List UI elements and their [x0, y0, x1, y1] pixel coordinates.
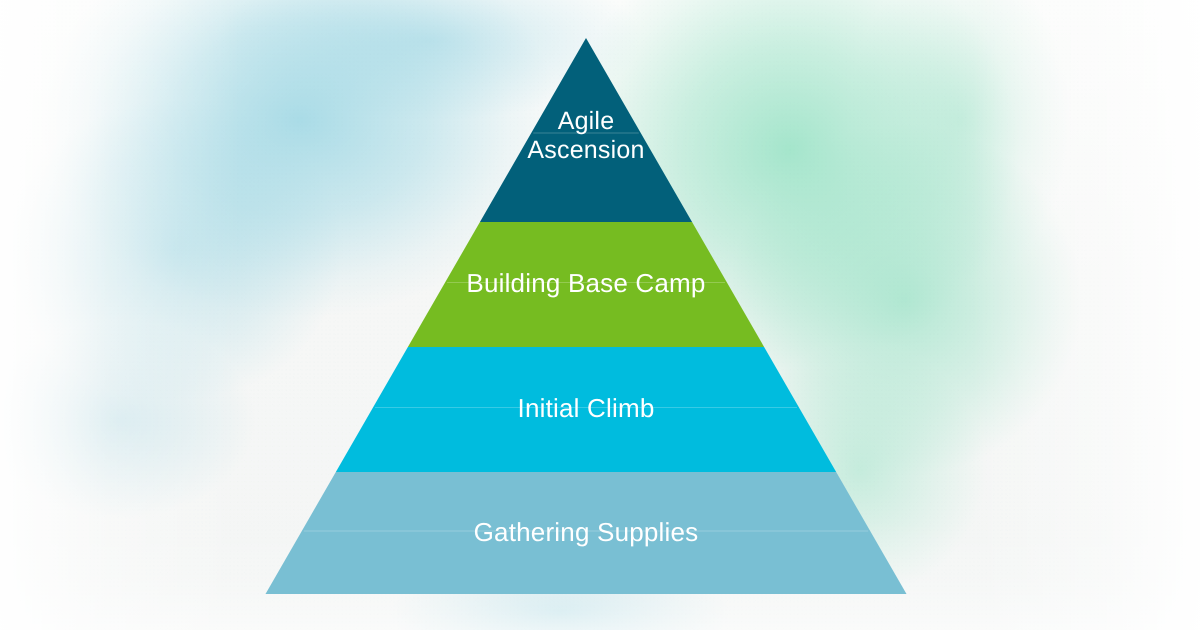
pyramid-level-2-band[interactable]	[408, 222, 764, 347]
pyramid-level-1-band[interactable]	[480, 38, 692, 222]
pyramid-level-3-band[interactable]	[336, 347, 836, 472]
pyramid-graphic	[0, 0, 1200, 630]
pyramid-level-4-band[interactable]	[266, 472, 907, 594]
pyramid-diagram-canvas: AgileAscension Building Base Camp Initia…	[0, 0, 1200, 630]
